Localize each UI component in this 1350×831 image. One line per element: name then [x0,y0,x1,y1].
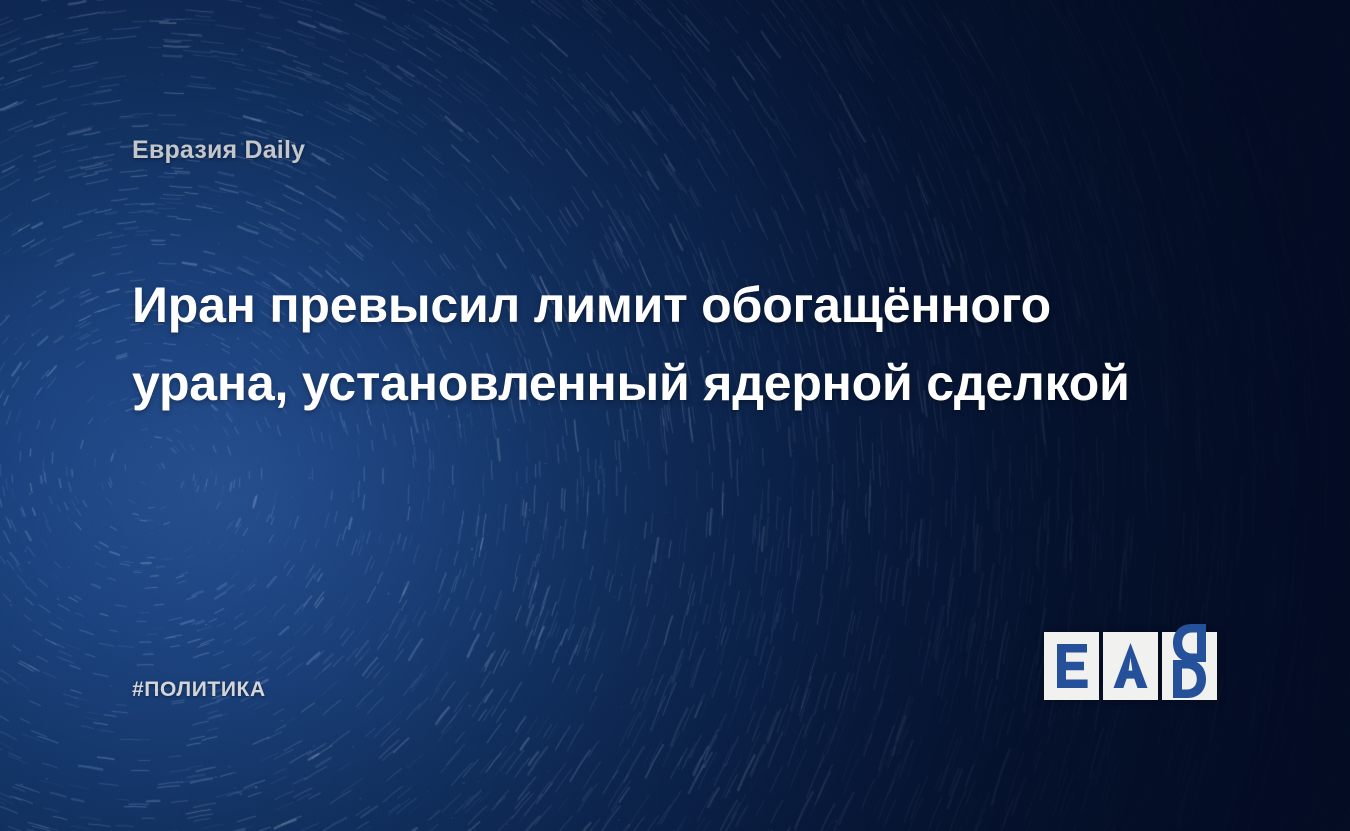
article-headline: Иран превысил лимит обогащённого урана, … [132,266,1222,422]
logo-letter-a-icon [1103,632,1158,700]
card-content: Евразия Daily Иран превысил лимит обогащ… [0,0,1350,831]
logo-letter-d-split-icon [1162,620,1217,700]
logo-tile-e [1044,632,1099,700]
article-share-card: Евразия Daily Иран превысил лимит обогащ… [0,0,1350,831]
headline-line-1: Иран превысил лимит обогащённого [132,277,1051,333]
headline-line-2: урана, установленный ядерной сделкой [132,355,1130,411]
site-name: Евразия Daily [132,136,305,165]
logo-tile-a [1103,632,1158,700]
logo-letter-e-icon [1044,632,1099,700]
ead-logo[interactable] [1044,632,1217,700]
category-hashtag: #ПОЛИТИКА [132,678,266,702]
logo-tile-d [1162,632,1217,700]
